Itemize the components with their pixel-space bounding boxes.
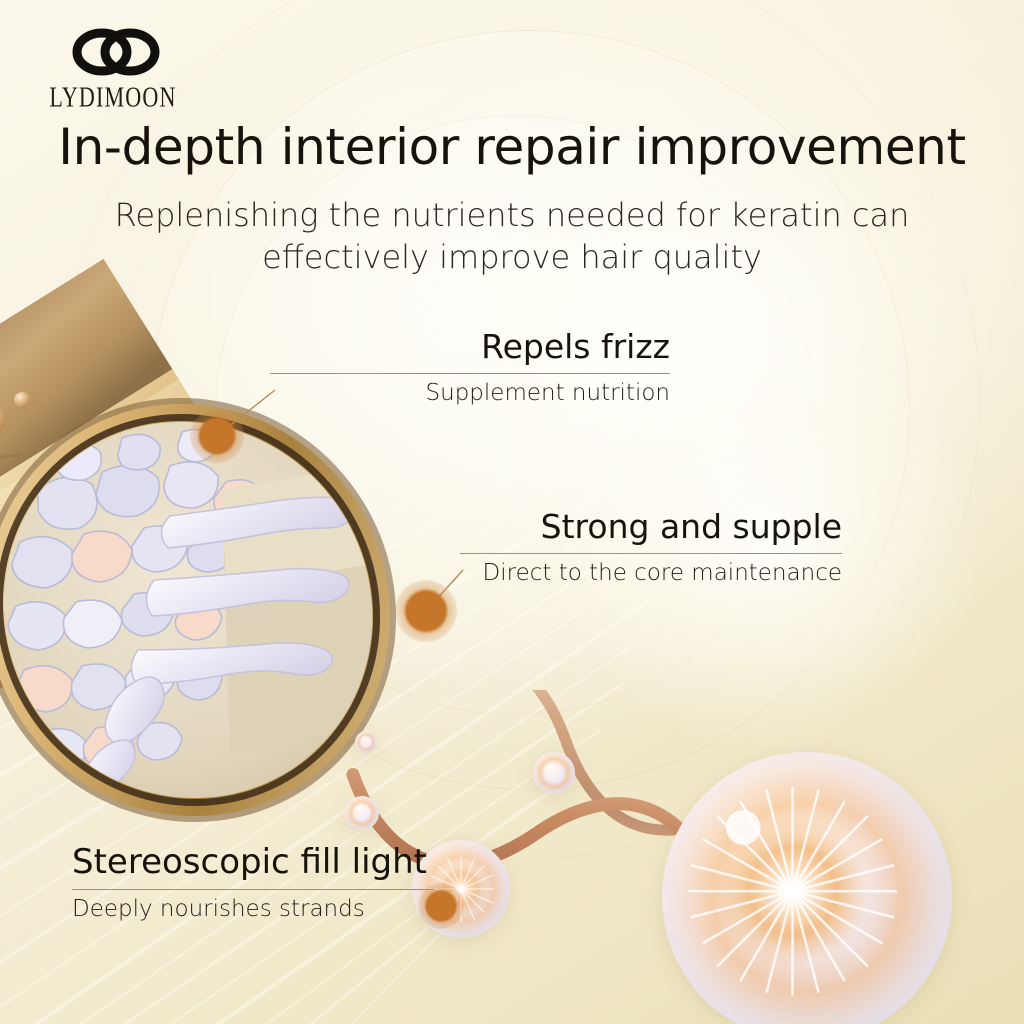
callout-repels-frizz: Repels frizz Supplement nutrition bbox=[270, 330, 670, 406]
brand-logo[interactable]: LYDIMOON bbox=[18, 24, 208, 108]
callout-divider bbox=[460, 553, 842, 554]
hair-cortex-cross-section bbox=[0, 410, 410, 830]
callout-dot-icon bbox=[190, 409, 244, 463]
callout-subtitle: Supplement nutrition bbox=[270, 381, 670, 406]
subtitle-line-2: effectively improve hair quality bbox=[90, 237, 934, 279]
sparkle-icon bbox=[0, 474, 74, 645]
keratin-fibre-icon bbox=[83, 497, 353, 796]
callout-dot-icon bbox=[395, 580, 457, 642]
callout-divider bbox=[270, 373, 670, 374]
page-subtitle: Replenishing the nutrients needed for ke… bbox=[90, 195, 934, 278]
page-title: In-depth interior repair improvement bbox=[0, 118, 1024, 176]
callout-strong-and-supple: Strong and supple Direct to the core mai… bbox=[460, 510, 842, 586]
oil-bubbles-icon bbox=[0, 363, 55, 600]
pearl-sphere bbox=[345, 796, 379, 830]
callout-title: Stereoscopic fill light bbox=[72, 845, 434, 881]
pearl-sphere bbox=[533, 752, 575, 794]
subtitle-line-1: Replenishing the nutrients needed for ke… bbox=[115, 196, 910, 234]
pearl-sphere-large bbox=[662, 752, 952, 1024]
callout-stereoscopic-fill-light: Stereoscopic fill light Deeply nourishes… bbox=[72, 845, 434, 922]
two-overlapping-rings-icon bbox=[68, 24, 164, 80]
pearl-sphere bbox=[355, 731, 377, 753]
callout-subtitle: Deeply nourishes strands bbox=[72, 897, 434, 922]
starburst-icon bbox=[662, 752, 952, 1024]
brand-wordmark: LYDIMOON bbox=[22, 82, 204, 114]
callout-subtitle: Direct to the core maintenance bbox=[460, 561, 842, 586]
callout-title: Strong and supple bbox=[460, 510, 842, 545]
poster-canvas: LYDIMOON In-depth interior repair improv… bbox=[0, 0, 1024, 1024]
callout-title: Repels frizz bbox=[270, 330, 670, 365]
callout-divider bbox=[72, 889, 434, 890]
